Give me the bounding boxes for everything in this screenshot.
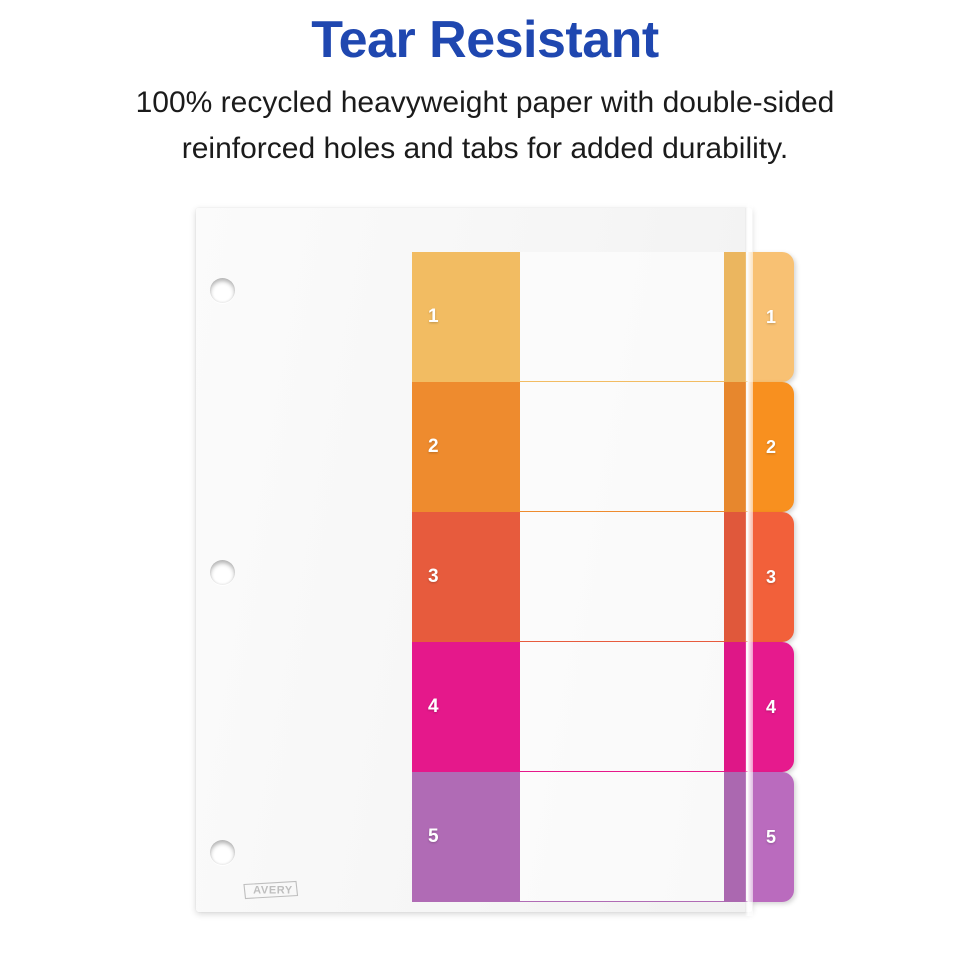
divider-color-block: 1 bbox=[412, 252, 520, 382]
divider-row: 4 bbox=[196, 642, 752, 772]
subtitle-line-2: reinforced holes and tabs for added dura… bbox=[30, 126, 940, 172]
page-title: Tear Resistant bbox=[0, 12, 970, 68]
product-photo: 1122334455 AVERY bbox=[196, 208, 756, 914]
avery-logo: AVERY bbox=[240, 878, 306, 902]
divider-number-label: 4 bbox=[428, 696, 439, 718]
index-tab-number: 3 bbox=[766, 567, 776, 588]
tab-spine bbox=[724, 252, 746, 382]
avery-logo-text: AVERY bbox=[253, 885, 293, 897]
index-tab-number: 5 bbox=[766, 827, 776, 848]
index-tab[interactable]: 4 bbox=[748, 642, 794, 772]
divider-number-label: 1 bbox=[428, 306, 439, 328]
divider-rows: 1122334455 bbox=[196, 208, 752, 912]
index-tab-number: 1 bbox=[766, 307, 776, 328]
divider-number-label: 5 bbox=[428, 826, 439, 848]
index-tab[interactable]: 1 bbox=[748, 252, 794, 382]
divider-color-block: 4 bbox=[412, 642, 520, 772]
tab-spine bbox=[724, 382, 746, 512]
divider-row: 2 bbox=[196, 382, 752, 512]
index-tab[interactable]: 3 bbox=[748, 512, 794, 642]
divider-number-label: 3 bbox=[428, 566, 439, 588]
divider-color-block: 2 bbox=[412, 382, 520, 512]
tab-spine bbox=[724, 512, 746, 642]
divider-row: 1 bbox=[196, 252, 752, 382]
index-tab[interactable]: 2 bbox=[748, 382, 794, 512]
index-tab[interactable]: 5 bbox=[748, 772, 794, 902]
subtitle-line-1: 100% recycled heavyweight paper with dou… bbox=[30, 80, 940, 126]
divider-color-block: 5 bbox=[412, 772, 520, 902]
index-tab-number: 2 bbox=[766, 437, 776, 458]
tab-spine bbox=[724, 642, 746, 772]
product-feature-image: Tear Resistant 100% recycled heavyweight… bbox=[0, 0, 970, 971]
page-subtitle: 100% recycled heavyweight paper with dou… bbox=[0, 80, 970, 171]
index-tab-number: 4 bbox=[766, 697, 776, 718]
divider-number-label: 2 bbox=[428, 436, 439, 458]
divider-color-block: 3 bbox=[412, 512, 520, 642]
divider-row: 3 bbox=[196, 512, 752, 642]
tab-spine bbox=[724, 772, 746, 902]
